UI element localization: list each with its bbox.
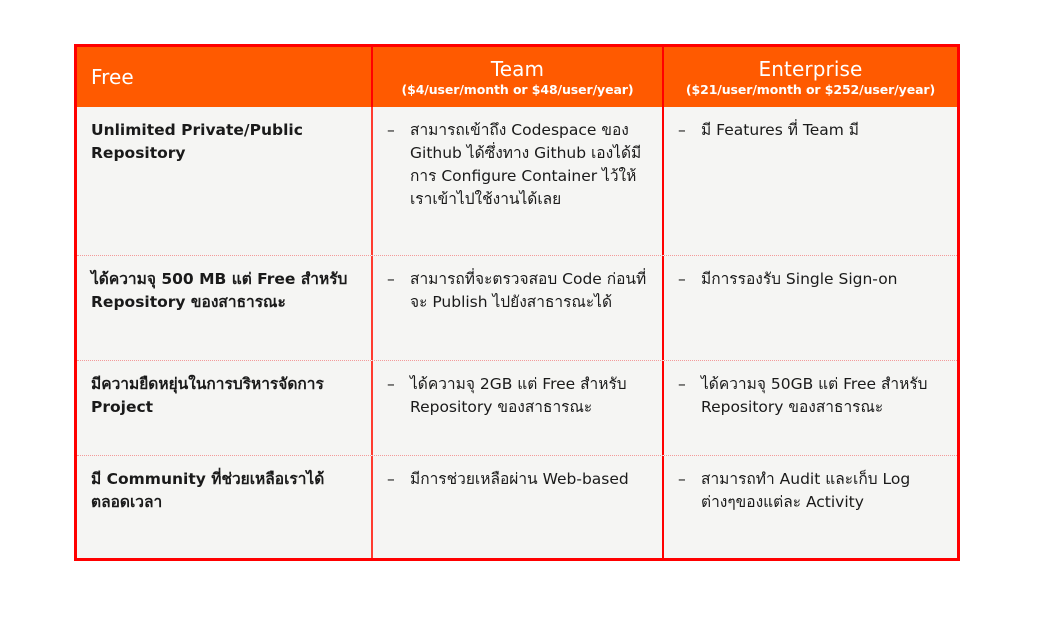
- bullet-list: – มีการช่วยเหลือผ่าน Web-based: [387, 468, 652, 491]
- list-item: – มีการรองรับ Single Sign-on: [678, 268, 947, 291]
- cell-enterprise: – สามารถทำ Audit และเก็บ Log ต่างๆของแต่…: [664, 456, 957, 558]
- cell-enterprise-text: สามารถทำ Audit และเก็บ Log ต่างๆของแต่ละ…: [701, 468, 947, 514]
- column-header-free-title: Free: [91, 65, 134, 89]
- bullet-list: – ได้ความจุ 2GB แต่ Free สำหรับ Reposito…: [387, 373, 652, 419]
- column-header-team-price: ($4/user/month or $48/user/year): [401, 82, 633, 98]
- table-row: Unlimited Private/Public Repository – สา…: [77, 107, 957, 256]
- bullet-list: – มีการรองรับ Single Sign-on: [678, 268, 947, 291]
- bullet-list: – ได้ความจุ 50GB แต่ Free สำหรับ Reposit…: [678, 373, 947, 419]
- dash-bullet-icon: –: [678, 119, 686, 142]
- table-row: มี Community ที่ช่วยเหลือเราได้ตลอดเวลา …: [77, 456, 957, 558]
- list-item: – ได้ความจุ 50GB แต่ Free สำหรับ Reposit…: [678, 373, 947, 419]
- list-item: – สามารถทำ Audit และเก็บ Log ต่างๆของแต่…: [678, 468, 947, 514]
- column-header-enterprise-title: Enterprise: [759, 57, 863, 81]
- cell-enterprise: – มี Features ที่ Team มี: [664, 107, 957, 255]
- dash-bullet-icon: –: [387, 268, 395, 291]
- cell-team-text: สามารถเข้าถึง Codespace ของ Github ได้ซึ…: [410, 119, 652, 211]
- dash-bullet-icon: –: [678, 373, 686, 396]
- cell-enterprise-text: ได้ความจุ 50GB แต่ Free สำหรับ Repositor…: [701, 373, 947, 419]
- column-header-team-title: Team: [491, 57, 544, 81]
- column-header-free: Free: [77, 47, 373, 107]
- cell-free: Unlimited Private/Public Repository: [77, 107, 373, 255]
- table-body: Unlimited Private/Public Repository – สา…: [77, 107, 957, 558]
- dash-bullet-icon: –: [678, 268, 686, 291]
- cell-free-text: ได้ความจุ 500 MB แต่ Free สำหรับ Reposit…: [91, 268, 361, 314]
- pricing-comparison-table: Free Team ($4/user/month or $48/user/yea…: [74, 44, 960, 561]
- list-item: – มีการช่วยเหลือผ่าน Web-based: [387, 468, 652, 491]
- cell-free-text: Unlimited Private/Public Repository: [91, 119, 361, 165]
- cell-enterprise: – ได้ความจุ 50GB แต่ Free สำหรับ Reposit…: [664, 361, 957, 455]
- dash-bullet-icon: –: [387, 468, 395, 491]
- cell-enterprise-text: มีการรองรับ Single Sign-on: [701, 268, 947, 291]
- dash-bullet-icon: –: [678, 468, 686, 491]
- cell-team: – สามารถที่จะตรวจสอบ Code ก่อนที่จะ Publ…: [373, 256, 664, 360]
- cell-free: ได้ความจุ 500 MB แต่ Free สำหรับ Reposit…: [77, 256, 373, 360]
- table-row: ได้ความจุ 500 MB แต่ Free สำหรับ Reposit…: [77, 256, 957, 361]
- cell-team: – ได้ความจุ 2GB แต่ Free สำหรับ Reposito…: [373, 361, 664, 455]
- cell-free-text: มี Community ที่ช่วยเหลือเราได้ตลอดเวลา: [91, 468, 361, 514]
- bullet-list: – สามารถที่จะตรวจสอบ Code ก่อนที่จะ Publ…: [387, 268, 652, 314]
- cell-free: มีความยืดหยุ่นในการบริหารจัดการ Project: [77, 361, 373, 455]
- cell-enterprise-text: มี Features ที่ Team มี: [701, 119, 947, 142]
- table-row: มีความยืดหยุ่นในการบริหารจัดการ Project …: [77, 361, 957, 456]
- list-item: – สามารถเข้าถึง Codespace ของ Github ได้…: [387, 119, 652, 211]
- cell-team-text: ได้ความจุ 2GB แต่ Free สำหรับ Repository…: [410, 373, 652, 419]
- cell-team: – สามารถเข้าถึง Codespace ของ Github ได้…: [373, 107, 664, 255]
- dash-bullet-icon: –: [387, 373, 395, 396]
- cell-free-text: มีความยืดหยุ่นในการบริหารจัดการ Project: [91, 373, 361, 419]
- slide-canvas: Free Team ($4/user/month or $48/user/yea…: [0, 0, 1049, 630]
- table-header-row: Free Team ($4/user/month or $48/user/yea…: [77, 47, 957, 107]
- cell-team-text: สามารถที่จะตรวจสอบ Code ก่อนที่จะ Publis…: [410, 268, 652, 314]
- cell-team: – มีการช่วยเหลือผ่าน Web-based: [373, 456, 664, 558]
- bullet-list: – สามารถเข้าถึง Codespace ของ Github ได้…: [387, 119, 652, 211]
- list-item: – ได้ความจุ 2GB แต่ Free สำหรับ Reposito…: [387, 373, 652, 419]
- list-item: – สามารถที่จะตรวจสอบ Code ก่อนที่จะ Publ…: [387, 268, 652, 314]
- cell-enterprise: – มีการรองรับ Single Sign-on: [664, 256, 957, 360]
- bullet-list: – สามารถทำ Audit และเก็บ Log ต่างๆของแต่…: [678, 468, 947, 514]
- list-item: – มี Features ที่ Team มี: [678, 119, 947, 142]
- cell-free: มี Community ที่ช่วยเหลือเราได้ตลอดเวลา: [77, 456, 373, 558]
- column-header-team: Team ($4/user/month or $48/user/year): [373, 47, 664, 107]
- bullet-list: – มี Features ที่ Team มี: [678, 119, 947, 142]
- cell-team-text: มีการช่วยเหลือผ่าน Web-based: [410, 468, 652, 491]
- column-header-enterprise: Enterprise ($21/user/month or $252/user/…: [664, 47, 957, 107]
- dash-bullet-icon: –: [387, 119, 395, 142]
- column-header-enterprise-price: ($21/user/month or $252/user/year): [686, 82, 935, 98]
